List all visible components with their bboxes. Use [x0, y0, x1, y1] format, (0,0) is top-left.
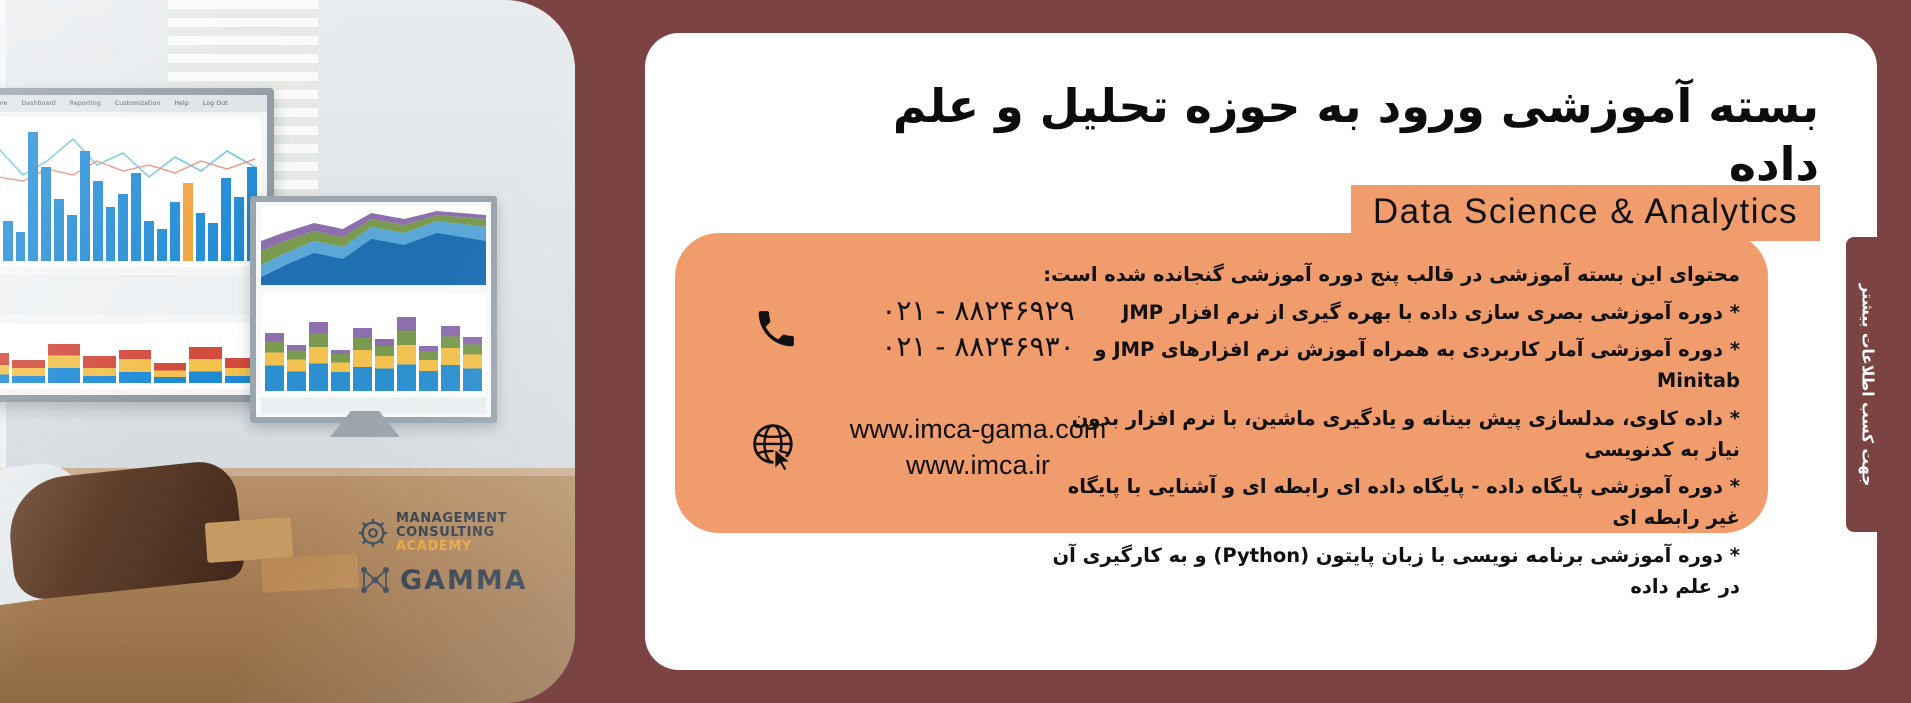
- course-list: محتوای این بسته آموزشی در قالب پنج دوره …: [1040, 259, 1740, 608]
- course-item: * دوره آموزشی پایگاه داده - پایگاه داده …: [1040, 471, 1740, 533]
- stacked-bar-chart-secondary: [261, 294, 486, 395]
- website-links[interactable]: www.imca-gama.com www.imca.ir: [831, 411, 1125, 483]
- website-link[interactable]: www.imca-gama.com: [831, 411, 1125, 447]
- gear-icon: [358, 518, 388, 548]
- monitor-menu-bar: Home Dashboard Reporting Customization H…: [0, 95, 267, 112]
- contact-phone-row: ۰۲۱ - ۸۸۲۴۶۹۲۹ ۰۲۱ - ۸۸۲۴۶۹۳۰: [745, 293, 1125, 365]
- globe-cursor-icon: [745, 421, 807, 473]
- stacked-bar-series: [0, 333, 257, 383]
- monitor-menu-item: Log Out: [203, 100, 228, 107]
- monitor-menu-item: Reporting: [70, 100, 101, 107]
- phone-handset-glyph: [753, 306, 799, 352]
- course-intro: محتوای این بسته آموزشی در قالب پنج دوره …: [1040, 259, 1740, 290]
- logo-line-3: ACADEMY: [396, 540, 507, 554]
- monitor-menu-item: Dashboard: [22, 100, 56, 107]
- hero-photo: Home Dashboard Reporting Customization H…: [0, 0, 575, 703]
- desk-block: [205, 517, 294, 563]
- phone-number[interactable]: ۰۲۱ - ۸۸۲۴۶۹۳۰: [831, 329, 1125, 365]
- desk-block: [261, 554, 359, 593]
- monitor-primary: Home Dashboard Reporting Customization H…: [0, 88, 274, 402]
- network-nodes-icon: [358, 563, 392, 597]
- area-chart-svg: [261, 207, 486, 285]
- phone-number[interactable]: ۰۲۱ - ۸۸۲۴۶۹۲۹: [831, 293, 1125, 329]
- phone-handset-icon: [745, 306, 807, 352]
- logo-wordlines: MANAGEMENT CONSULTING ACADEMY: [396, 512, 507, 554]
- globe-cursor-glyph: [750, 421, 802, 473]
- bar-chart-primary: [0, 117, 261, 267]
- monitor-menu-item: Help: [174, 100, 188, 107]
- logo-line-2: CONSULTING: [396, 526, 507, 540]
- stacked-chart-primary: [0, 323, 261, 389]
- content-card: بسته آموزشی ورود به حوزه تحلیل و علم داد…: [645, 33, 1877, 670]
- course-item: * دوره آموزشی آمار کاربردی به همراه آموز…: [1040, 334, 1740, 396]
- page-title: بسته آموزشی ورود به حوزه تحلیل و علم داد…: [819, 78, 1819, 193]
- area-chart: [261, 207, 486, 285]
- phone-numbers[interactable]: ۰۲۱ - ۸۸۲۴۶۹۲۹ ۰۲۱ - ۸۸۲۴۶۹۳۰: [831, 293, 1125, 365]
- slider-strip: [0, 275, 261, 315]
- course-item: * دوره آموزشی برنامه نویسی با زبان پایتو…: [1040, 540, 1740, 602]
- poster-canvas: Home Dashboard Reporting Customization H…: [0, 0, 1911, 703]
- bar-series: [0, 127, 257, 261]
- subtitle-text: Data Science & Analytics: [1373, 192, 1798, 231]
- course-panel: محتوای این بسته آموزشی در قالب پنج دوره …: [675, 233, 1768, 533]
- course-item: * داده کاوی، مدلسازی پیش بینانه و یادگیر…: [1040, 403, 1740, 465]
- monitor-menu-item: Customization: [115, 100, 161, 107]
- monitor-menu-item: Home: [0, 100, 8, 107]
- contact-web-row: www.imca-gama.com www.imca.ir: [745, 411, 1125, 483]
- monitor-secondary: [250, 196, 497, 423]
- course-item: * دوره آموزشی بصری سازی داده با بهره گیر…: [1040, 297, 1740, 328]
- imca-gamma-logo: MANAGEMENT CONSULTING ACADEMY GAMMA: [358, 512, 538, 597]
- logo-wordmark: GAMMA: [400, 565, 528, 596]
- logo-line-1: MANAGEMENT: [396, 512, 507, 526]
- contact-block: ۰۲۱ - ۸۸۲۴۶۹۲۹ ۰۲۱ - ۸۸۲۴۶۹۳۰: [745, 293, 1125, 483]
- side-tab-label: جهت کسب اطلاعات بیشتر: [1858, 283, 1876, 486]
- website-link[interactable]: www.imca.ir: [831, 447, 1125, 483]
- side-tab-more-info[interactable]: جهت کسب اطلاعات بیشتر: [1846, 237, 1888, 532]
